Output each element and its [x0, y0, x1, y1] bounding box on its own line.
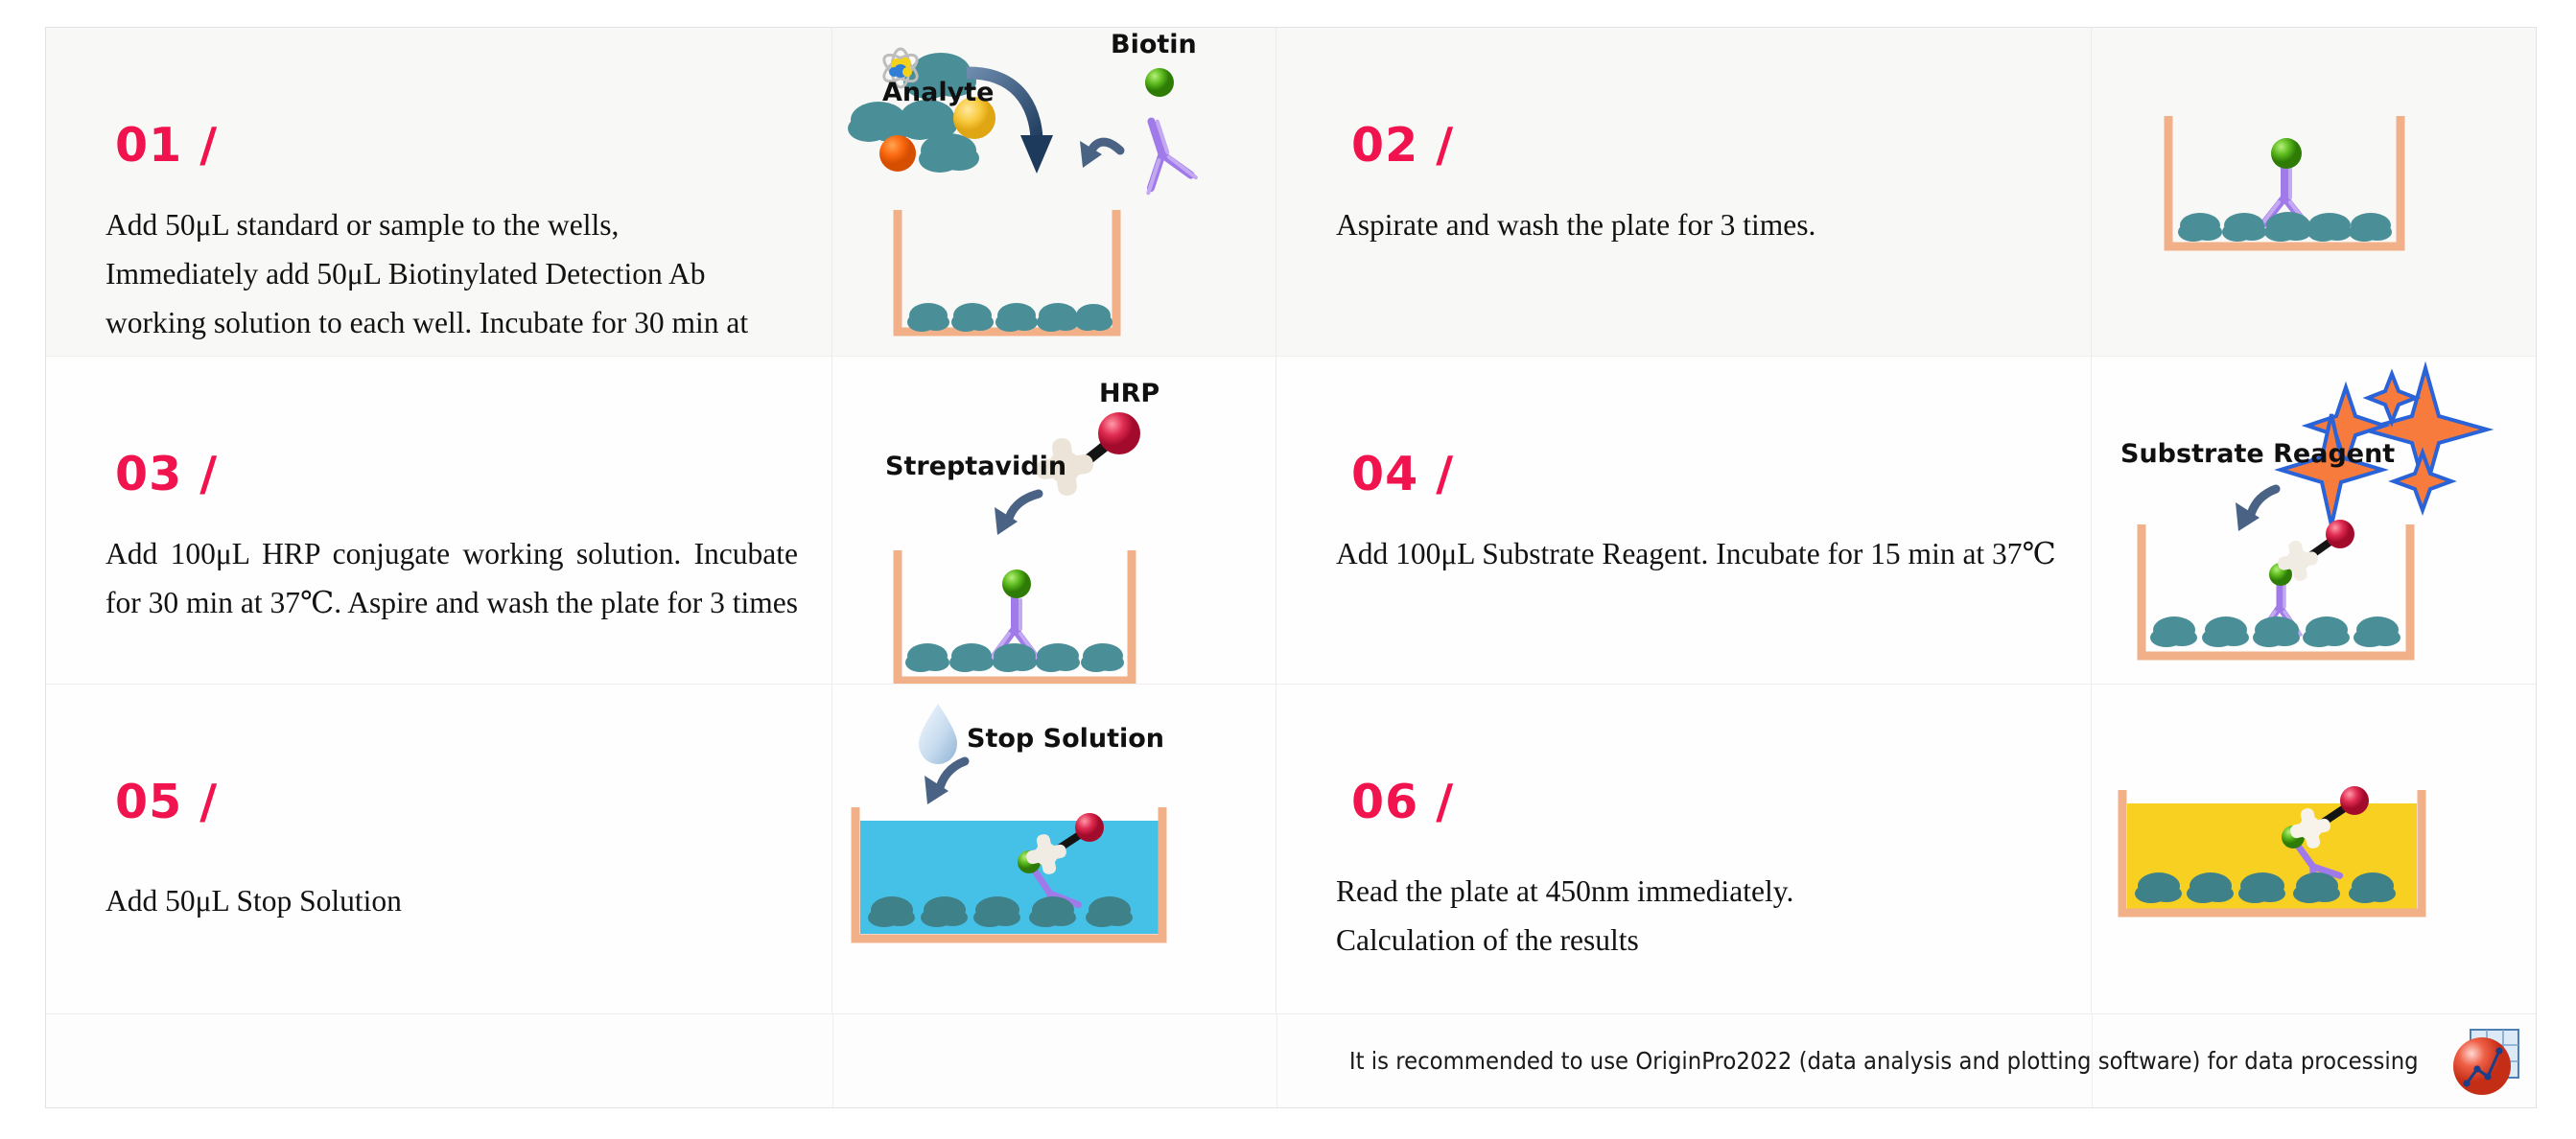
protocol-grid: 01 / Add 50μL standard or sample to the …	[46, 28, 2536, 1013]
step-03-description: Add 100μL HRP conjugate working solution…	[105, 529, 798, 627]
step-05-description: Add 50μL Stop Solution	[105, 876, 777, 925]
add-hrp-conjugate-illustration: HRP Streptavidin	[832, 357, 1276, 685]
step-04-number: 04 /	[1351, 451, 1454, 498]
originlab-logo	[2449, 1026, 2522, 1099]
step-02-number: 02 /	[1351, 122, 1454, 169]
coated-antibody-blobs	[907, 303, 1112, 332]
hrp-sphere	[2326, 520, 2354, 548]
step-05-number: 05 /	[115, 779, 218, 825]
step-04-description: Add 100μL Substrate Reagent. Incubate fo…	[1336, 529, 2065, 578]
biotin-arrow-icon	[1080, 141, 1120, 168]
add-stop-solution-illustration: Stop Solution	[832, 685, 1276, 1013]
step-06-illustration-cell	[2092, 685, 2536, 1013]
footer-divider-1	[832, 1014, 833, 1109]
biotin-sphere	[2271, 138, 2302, 169]
hrp-sphere	[2340, 786, 2369, 815]
step-01-description: Add 50μL standard or sample to the wells…	[105, 200, 777, 357]
step-06-number: 06 /	[1351, 779, 1454, 825]
step-06-text-cell: 06 / Read the plate at 450nm immediately…	[1276, 685, 2092, 1013]
logo-sphere	[2453, 1037, 2511, 1095]
substrate-reagent-label: Substrate Reagent	[2120, 439, 2395, 469]
add-substrate-reagent-illustration: Substrate Reagent	[2092, 357, 2536, 685]
step-05-text-cell: 05 / Add 50μL Stop Solution	[46, 685, 832, 1013]
analyte-label: Analyte	[882, 78, 994, 107]
step-02-text-cell: 02 / Aspirate and wash the plate for 3 t…	[1276, 28, 2092, 357]
biotin-label: Biotin	[1111, 30, 1197, 59]
step-01-text-cell: 01 / Add 50μL standard or sample to the …	[46, 28, 832, 357]
biotinylated-detection-antibody	[1128, 114, 1196, 194]
step-01-illustration-cell: Analyte	[832, 28, 1276, 357]
step-02-illustration-cell	[2092, 28, 2536, 357]
step-06-description: Read the plate at 450nm immediately. Cal…	[1336, 867, 2065, 965]
add-reagent-arrow-icon	[995, 494, 1039, 535]
step-01-number: 01 /	[115, 122, 218, 169]
footer-bar: It is recommended to use OriginPro2022 (…	[46, 1013, 2536, 1109]
streptavidin-label: Streptavidin	[885, 452, 1066, 481]
hrp-label: HRP	[1099, 379, 1159, 408]
water-droplet-icon	[919, 704, 957, 764]
coated-antibody-blobs	[905, 643, 1124, 672]
biotin-sphere	[1145, 68, 1174, 97]
step-03-text-cell: 03 / Add 100μL HRP conjugate working sol…	[46, 357, 832, 686]
read-plate-illustration	[2092, 685, 2536, 1013]
add-substrate-arrow-icon	[2236, 489, 2276, 531]
orange-molecule-sphere	[879, 135, 916, 172]
origin-recommendation-note: It is recommended to use OriginPro2022 (…	[1349, 1047, 2419, 1075]
coated-antibody-blobs	[2150, 616, 2400, 647]
step-04-text-cell: 04 / Add 100μL Substrate Reagent. Incuba…	[1276, 357, 2092, 686]
biotin-sphere	[1002, 569, 1031, 598]
add-stop-solution-arrow-icon	[925, 761, 965, 804]
wash-plate-illustration	[2092, 28, 2536, 356]
hrp-sphere	[1098, 412, 1140, 454]
stop-solution-label: Stop Solution	[967, 724, 1164, 754]
step-03-number: 03 /	[115, 451, 218, 498]
footer-divider-2	[1276, 1014, 1277, 1109]
hrp-sphere	[1075, 813, 1104, 842]
step-03-illustration-cell: HRP Streptavidin	[832, 357, 1276, 686]
step-02-description: Aspirate and wash the plate for 3 times.	[1336, 200, 2007, 249]
protocol-board: 01 / Add 50μL standard or sample to the …	[45, 27, 2537, 1108]
add-sample-and-detection-ab-illustration: Analyte	[832, 28, 1276, 356]
coated-antibody-blobs	[2178, 212, 2392, 242]
step-05-illustration-cell: Stop Solution	[832, 685, 1276, 1013]
step-04-illustration-cell: Substrate Reagent	[2092, 357, 2536, 686]
